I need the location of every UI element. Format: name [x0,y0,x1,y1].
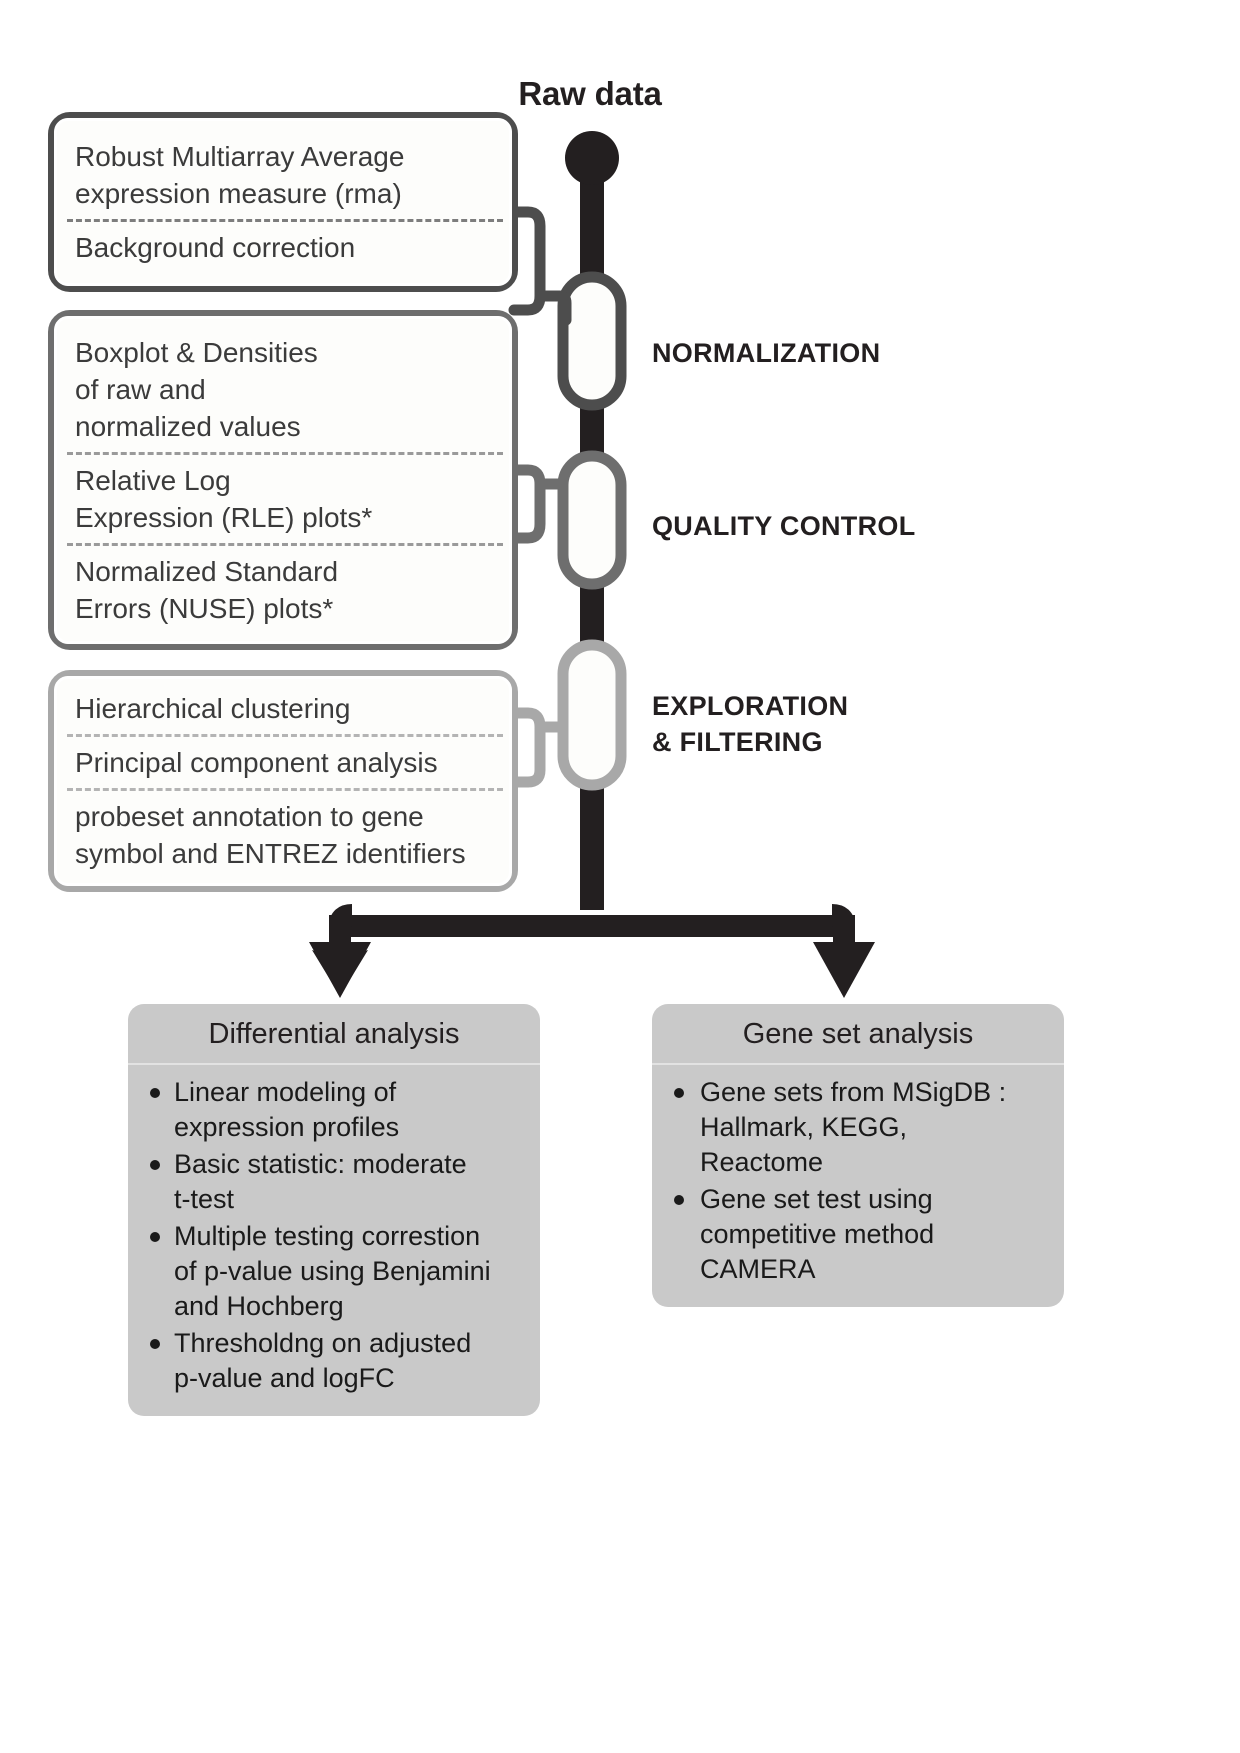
card-bullet-list: Linear modeling of expression profiles B… [128,1065,540,1416]
stage-label-normalization: NORMALIZATION [652,335,880,371]
stage-item: probeset annotation to gene symbol and E… [57,791,509,879]
card-bullet-list: Gene sets from MSigDB : Hallmark, KEGG, … [652,1065,1064,1307]
stage-pill-quality-control [563,456,621,584]
stage-box-exploration-filtering: Hierarchical clustering Principal compon… [48,670,518,892]
stage-item: Boxplot & Densities of raw and normalize… [57,327,509,452]
list-item: Gene sets from MSigDB : Hallmark, KEGG, … [670,1075,1050,1180]
bullet-icon [150,1160,160,1170]
stage-item: Robust Multiarray Average expression mea… [57,131,509,219]
bullet-icon [150,1088,160,1098]
raw-data-node [565,131,619,185]
stage-item: Normalized Standard Errors (NUSE) plots* [57,546,509,634]
list-item: Linear modeling of expression profiles [146,1075,526,1145]
list-item-label: Gene sets from MSigDB : Hallmark, KEGG, … [700,1077,1006,1177]
stage-item: Background correction [57,222,509,273]
bullet-icon [150,1339,160,1349]
list-item-label: Linear modeling of expression profiles [174,1077,399,1142]
stage-label-exploration-filtering: EXPLORATION & FILTERING [652,688,848,760]
list-item: Basic statistic: moderate t-test [146,1147,526,1217]
stage-pill-normalization [563,277,621,405]
list-item: Multiple testing correstion of p-value u… [146,1219,526,1324]
bullet-icon [674,1195,684,1205]
stage-item: Hierarchical clustering [57,683,509,734]
bullet-icon [150,1232,160,1242]
stage-box-normalization: Robust Multiarray Average expression mea… [48,112,518,292]
list-item-label: Gene set test using competitive method C… [700,1184,934,1284]
list-item-label: Basic statistic: moderate t-test [174,1149,467,1214]
branch-connector [340,926,844,948]
list-item-label: Multiple testing correstion of p-value u… [174,1221,491,1321]
list-item: Gene set test using competitive method C… [670,1182,1050,1287]
list-item-label: Thresholdng on adjusted p-value and logF… [174,1328,471,1393]
page-title: Raw data [470,75,710,113]
stage-item: Principal component analysis [57,737,509,788]
stage-item: Relative Log Expression (RLE) plots* [57,455,509,543]
connector-normalization-stub [540,296,566,320]
card-title: Differential analysis [128,1004,540,1065]
bullet-icon [674,1088,684,1098]
stage-box-quality-control: Boxplot & Densities of raw and normalize… [48,310,518,650]
stage-pill-exploration [563,645,621,785]
list-item: Thresholdng on adjusted p-value and logF… [146,1326,526,1396]
stage-label-quality-control: QUALITY CONTROL [652,508,916,544]
card-title: Gene set analysis [652,1004,1064,1065]
output-card-differential-analysis: Differential analysis Linear modeling of… [128,1004,540,1416]
output-card-gene-set-analysis: Gene set analysis Gene sets from MSigDB … [652,1004,1064,1307]
